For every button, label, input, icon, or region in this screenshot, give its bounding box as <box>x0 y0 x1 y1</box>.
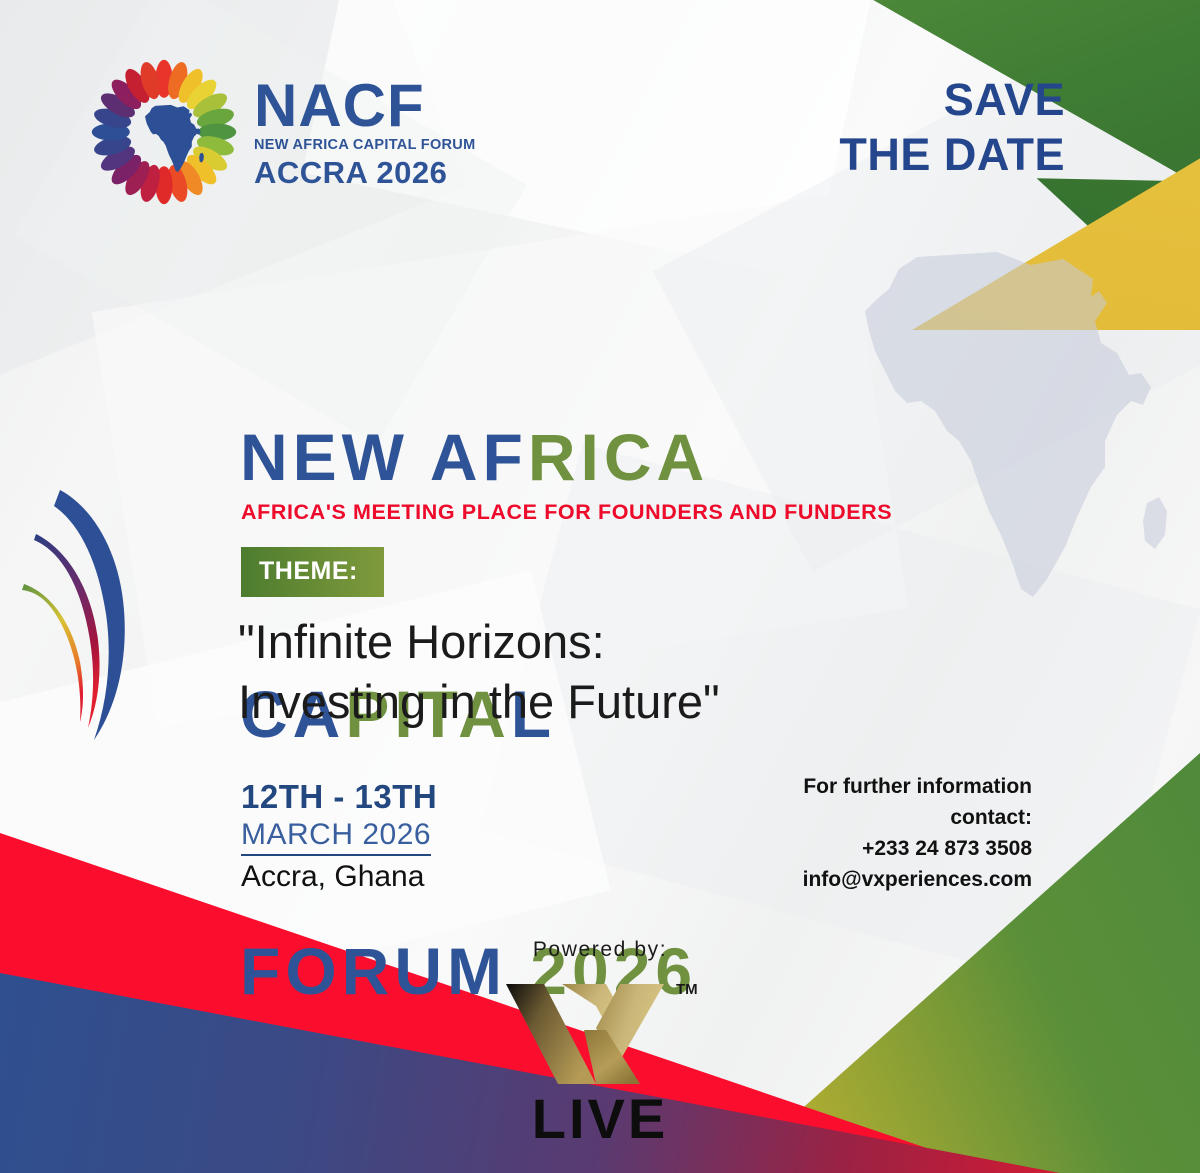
event-date-block: 12TH - 13TH MARCH 2026 Accra, Ghana <box>241 778 437 894</box>
contact-email[interactable]: info@vxperiences.com <box>803 865 1032 896</box>
nacf-logo: NACF NEW AFRICA CAPITAL FORUM ACCRA 2026 <box>88 56 475 208</box>
event-month-year: MARCH 2026 <box>241 818 431 856</box>
theme-quote: "Infinite Horizons: Investing in the Fut… <box>238 612 720 732</box>
event-days: 12TH - 13TH <box>241 778 437 816</box>
vx-monogram-icon: TM <box>500 972 700 1092</box>
nacf-location-year: ACCRA 2026 <box>254 155 475 191</box>
nacf-logo-wordmark: NACF NEW AFRICA CAPITAL FORUM ACCRA 2026 <box>254 73 475 191</box>
headline-line-1: NEW AFRICA <box>240 415 709 501</box>
africa-map-watermark <box>855 235 1185 635</box>
contact-phone[interactable]: +233 24 873 3508 <box>803 834 1032 865</box>
contact-block: For further information contact: +233 24… <box>803 772 1032 895</box>
vx-live-wordmark: LIVE <box>532 1086 668 1151</box>
theme-badge: THEME: <box>241 547 384 597</box>
headline-line-1-green: RICA <box>528 420 709 494</box>
save-the-date-line-1: SAVE <box>839 73 1065 128</box>
save-the-date-line-2: THE DATE <box>839 128 1065 183</box>
nacf-petal-africa-logo-icon <box>88 56 240 208</box>
nacf-acronym: NACF <box>254 77 475 134</box>
swoosh-decoration <box>8 462 158 762</box>
tagline: AFRICA'S MEETING PLACE FOR FOUNDERS AND … <box>241 500 892 525</box>
contact-line-1: For further information <box>803 772 1032 803</box>
event-location: Accra, Ghana <box>241 860 437 894</box>
event-poster: NACF NEW AFRICA CAPITAL FORUM ACCRA 2026… <box>0 0 1200 1173</box>
headline-line-1-blue: NEW AF <box>240 420 528 494</box>
nacf-subtitle: NEW AFRICA CAPITAL FORUM <box>254 137 475 153</box>
contact-line-2: contact: <box>803 803 1032 834</box>
powered-by-label: Powered by: <box>0 938 1200 962</box>
save-the-date-heading: SAVE THE DATE <box>839 73 1065 183</box>
trademark-symbol: TM <box>676 981 698 998</box>
vx-live-logo: TM LIVE <box>0 972 1200 1151</box>
